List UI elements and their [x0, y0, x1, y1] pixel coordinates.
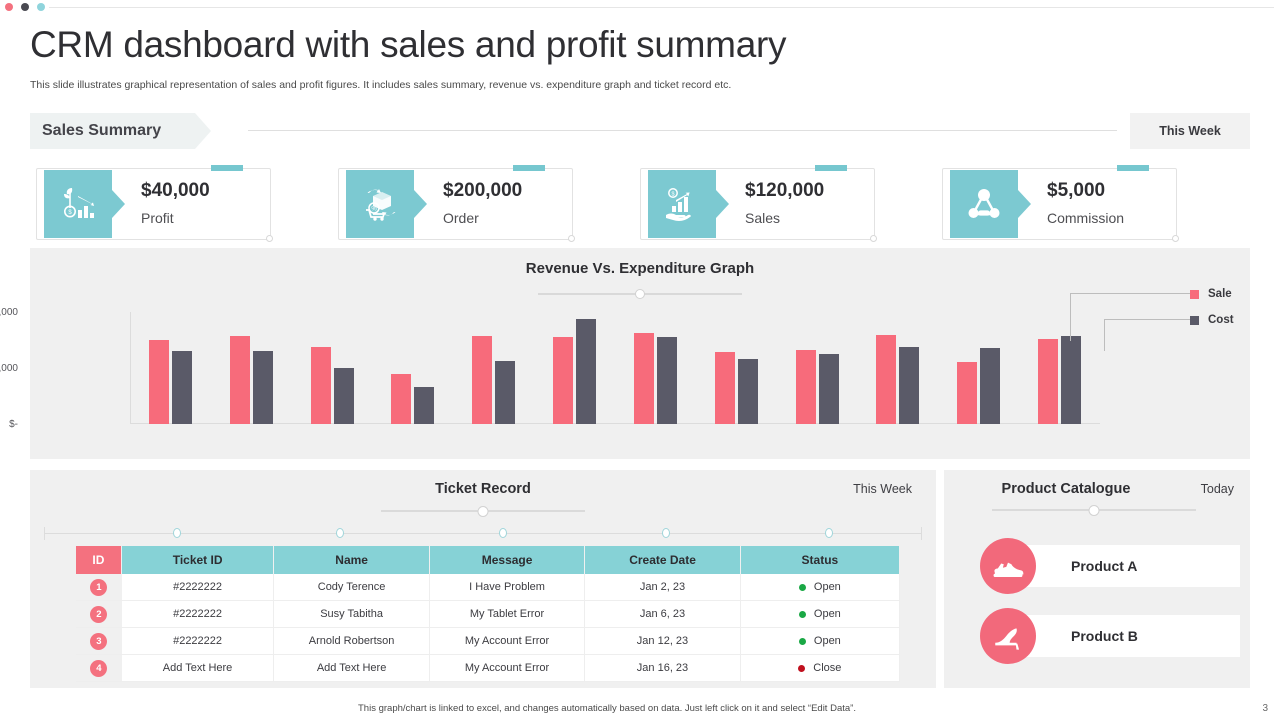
- ticket-slider-knob[interactable]: [478, 506, 489, 517]
- ticket-record-slider[interactable]: [381, 506, 585, 516]
- sales-hand-growth-icon: $: [648, 170, 716, 238]
- status-label: Open: [814, 581, 841, 593]
- chart-bar-group: [709, 352, 763, 424]
- row-id-badge: 3: [90, 633, 107, 650]
- chart-bar-sale: [796, 350, 816, 424]
- chart-bar-sale: [715, 352, 735, 424]
- table-cell-status: Open: [741, 601, 900, 627]
- sales-summary-tag: Sales Summary: [30, 113, 195, 149]
- product-item-b[interactable]: Product B: [980, 615, 1240, 657]
- page-subtitle: This slide illustrates graphical represe…: [30, 79, 731, 91]
- table-cell-name: Arnold Robertson: [274, 628, 429, 654]
- chart-legend: Sale Cost: [1032, 284, 1222, 344]
- table-cell-message: My Account Error: [430, 628, 585, 654]
- window-dot-dark[interactable]: [21, 3, 29, 11]
- kpi-accent-bar: [513, 165, 545, 171]
- chart-bar-sale: [957, 362, 977, 424]
- table-cell-create-date: Jan 6, 23: [585, 601, 740, 627]
- high-heel-shoe-icon: [980, 608, 1036, 664]
- kpi-card-profit[interactable]: $ $40,000 Profit: [36, 168, 271, 240]
- legend-callout-sale-stem: [1070, 293, 1071, 341]
- status-label: Open: [814, 608, 841, 620]
- column-header-message[interactable]: Message: [430, 546, 585, 574]
- table-cell-ticket-id: Add Text Here: [122, 655, 275, 681]
- column-header-create-date[interactable]: Create Date: [585, 546, 740, 574]
- chart-bar-sale: [311, 347, 331, 424]
- status-badge: Close: [798, 662, 841, 674]
- chart-bar-cost: [414, 387, 434, 424]
- column-resize-rail: [44, 525, 922, 541]
- legend-swatch-sale: [1190, 290, 1199, 299]
- legend-callout-cost-line: [1104, 319, 1190, 320]
- chart-bar-cost: [899, 347, 919, 424]
- chart-bar-group: [790, 350, 844, 424]
- window-dot-teal[interactable]: [37, 3, 45, 11]
- table-cell-status: Open: [741, 628, 900, 654]
- column-header-ticket-id[interactable]: Ticket ID: [122, 546, 275, 574]
- sneaker-shoe-icon: [980, 538, 1036, 594]
- chart-bar-group: [386, 374, 440, 424]
- product-slider-knob[interactable]: [1089, 505, 1100, 516]
- table-cell-id: 1: [76, 574, 122, 600]
- ticket-table-header: ID Ticket ID Name Message Create Date St…: [76, 546, 900, 574]
- table-cell-name: Susy Tabitha: [274, 601, 429, 627]
- chart-slider[interactable]: [538, 289, 742, 299]
- chart-y-tick-label: $6,000: [0, 363, 18, 374]
- column-rail-cap-left: [44, 527, 45, 540]
- svg-text:$: $: [671, 191, 674, 197]
- table-cell-message: My Tablet Error: [430, 601, 585, 627]
- status-dot-open: [799, 611, 806, 618]
- chart-bar-sale: [634, 333, 654, 424]
- table-cell-id: 4: [76, 655, 122, 681]
- chart-bar-cost: [738, 359, 758, 424]
- status-dot-open: [799, 638, 806, 645]
- chart-bar-sale: [230, 336, 250, 424]
- sales-summary-band: Sales Summary This Week: [30, 113, 1250, 149]
- column-resize-handle[interactable]: [825, 528, 833, 538]
- row-id-badge: 4: [90, 660, 107, 677]
- status-badge: Open: [799, 581, 841, 593]
- chart-bar-cost: [1061, 336, 1081, 424]
- chart-bar-cost: [657, 337, 677, 424]
- window-dot-red[interactable]: [5, 3, 13, 11]
- legend-callout-sale-line: [1070, 293, 1190, 294]
- status-badge: Open: [799, 608, 841, 620]
- window-chrome: [0, 0, 1280, 14]
- status-badge: Open: [799, 635, 841, 647]
- page-title: CRM dashboard with sales and profit summ…: [30, 24, 786, 66]
- kpi-accent-bar: [815, 165, 847, 171]
- kpi-accent-bar: [1117, 165, 1149, 171]
- chart-bar-group: [628, 333, 682, 424]
- kpi-card-commission[interactable]: $5,000 Commission: [942, 168, 1177, 240]
- kpi-value: $120,000: [745, 180, 824, 202]
- chart-plot-area: $-$6,000$12,000JanFebMarAprMayJunJulAugS…: [130, 312, 1100, 424]
- chart-bar-sale: [472, 336, 492, 424]
- table-cell-status: Close: [741, 655, 900, 681]
- chart-bar-group: [871, 335, 925, 424]
- chart-bar-group: [952, 348, 1006, 424]
- product-item-bar: Product A: [1010, 545, 1240, 587]
- chart-bar-group: [548, 319, 602, 424]
- column-resize-handle[interactable]: [173, 528, 181, 538]
- product-item-label: Product A: [1071, 558, 1137, 574]
- chart-bar-cost: [172, 351, 192, 424]
- chart-bar-cost: [253, 351, 273, 424]
- chart-bar-cost: [495, 361, 515, 424]
- kpi-label: Sales: [745, 210, 780, 226]
- table-cell-status: Open: [741, 574, 900, 600]
- product-catalogue-period[interactable]: Today: [1201, 482, 1234, 496]
- kpi-card-list: $ $40,000 Profit %: [30, 162, 1250, 240]
- svg-text:$: $: [68, 210, 72, 216]
- slide-canvas: CRM dashboard with sales and profit summ…: [0, 0, 1280, 720]
- chart-title: Revenue Vs. Expenditure Graph: [30, 260, 1250, 277]
- commission-network-icon: [950, 170, 1018, 238]
- kpi-label: Profit: [141, 210, 174, 226]
- page-number: 3: [1262, 703, 1268, 714]
- kpi-card-sales[interactable]: $ $120,000 Sales: [640, 168, 875, 240]
- table-row[interactable]: 3#2222222Arnold RobertsonMy Account Erro…: [76, 628, 900, 655]
- chart-bar-sale: [553, 337, 573, 424]
- status-label: Close: [813, 662, 841, 674]
- chart-y-tick-label: $-: [9, 419, 18, 430]
- kpi-accent-bar: [211, 165, 243, 171]
- kpi-value: $5,000: [1047, 180, 1105, 202]
- window-divider: [49, 7, 1274, 8]
- product-item-label: Product B: [1071, 628, 1138, 644]
- table-cell-create-date: Jan 2, 23: [585, 574, 740, 600]
- sales-summary-rule: [248, 130, 1117, 131]
- chart-y-tick-label: $12,000: [0, 307, 18, 318]
- sales-summary-label: Sales Summary: [42, 122, 161, 140]
- footer-note: This graph/chart is linked to excel, and…: [358, 703, 856, 714]
- product-catalogue-panel: Product Catalogue Today Product A Produc…: [944, 470, 1250, 688]
- column-header-id[interactable]: ID: [76, 546, 122, 574]
- table-row[interactable]: 1#2222222Cody TerenceI Have ProblemJan 2…: [76, 574, 900, 601]
- table-cell-create-date: Jan 12, 23: [585, 628, 740, 654]
- legend-swatch-cost: [1190, 316, 1199, 325]
- ticket-record-panel: Ticket Record This Week ID Ticket ID Nam…: [30, 470, 936, 688]
- column-header-name[interactable]: Name: [274, 546, 429, 574]
- profit-chart-plant-icon: $: [44, 170, 112, 238]
- product-item-bar: Product B: [1010, 615, 1240, 657]
- column-header-status[interactable]: Status: [741, 546, 900, 574]
- chart-bar-group: [224, 336, 278, 424]
- status-dot-open: [799, 584, 806, 591]
- chart-bar-group: [1033, 336, 1087, 424]
- kpi-value: $40,000: [141, 180, 210, 202]
- sales-summary-period-badge[interactable]: This Week: [1130, 113, 1250, 149]
- status-dot-close: [798, 665, 805, 672]
- chart-bar-cost: [576, 319, 596, 424]
- status-label: Open: [814, 635, 841, 647]
- table-cell-ticket-id: #2222222: [122, 574, 275, 600]
- table-cell-message: I Have Problem: [430, 574, 585, 600]
- table-cell-ticket-id: #2222222: [122, 628, 275, 654]
- kpi-value: $200,000: [443, 180, 522, 202]
- column-resize-handle[interactable]: [499, 528, 507, 538]
- table-cell-ticket-id: #2222222: [122, 601, 275, 627]
- row-id-badge: 1: [90, 579, 107, 596]
- table-cell-message: My Account Error: [430, 655, 585, 681]
- legend-label-cost: Cost: [1208, 314, 1234, 326]
- chart-bar-sale: [149, 340, 169, 424]
- ticket-table: ID Ticket ID Name Message Create Date St…: [76, 546, 900, 682]
- ticket-table-body: 1#2222222Cody TerenceI Have ProblemJan 2…: [76, 574, 900, 682]
- kpi-label: Commission: [1047, 210, 1124, 226]
- chart-bar-group: [467, 336, 521, 424]
- table-cell-name: Cody Terence: [274, 574, 429, 600]
- legend-label-sale: Sale: [1208, 288, 1232, 300]
- legend-callout-cost-stem: [1104, 319, 1105, 351]
- kpi-card-order[interactable]: % $200,000 Order: [338, 168, 573, 240]
- chart-bar-sale: [1038, 339, 1058, 424]
- chart-bar-cost: [980, 348, 1000, 424]
- svg-text:%: %: [371, 207, 377, 213]
- column-resize-handle[interactable]: [662, 528, 670, 538]
- legend-item-cost[interactable]: Cost: [1190, 314, 1234, 326]
- row-id-badge: 2: [90, 606, 107, 623]
- product-item-a[interactable]: Product A: [980, 545, 1240, 587]
- chart-slider-knob[interactable]: [635, 289, 645, 299]
- revenue-expenditure-chart-panel: Revenue Vs. Expenditure Graph $-$6,000$1…: [30, 248, 1250, 459]
- column-resize-handle[interactable]: [336, 528, 344, 538]
- table-cell-create-date: Jan 16, 23: [585, 655, 740, 681]
- chart-bar-cost: [334, 368, 354, 424]
- chart-bar-sale: [876, 335, 896, 424]
- chart-bar-group: [143, 340, 197, 424]
- chart-y-axis: [130, 312, 131, 424]
- column-rail-cap-right: [921, 527, 922, 540]
- legend-item-sale[interactable]: Sale: [1190, 288, 1232, 300]
- table-row[interactable]: 4Add Text HereAdd Text HereMy Account Er…: [76, 655, 900, 682]
- table-row[interactable]: 2#2222222Susy TabithaMy Tablet ErrorJan …: [76, 601, 900, 628]
- order-box-cart-icon: %: [346, 170, 414, 238]
- table-cell-name: Add Text Here: [274, 655, 429, 681]
- kpi-label: Order: [443, 210, 479, 226]
- chart-bar-cost: [819, 354, 839, 424]
- table-cell-id: 3: [76, 628, 122, 654]
- table-cell-id: 2: [76, 601, 122, 627]
- chart-bar-sale: [391, 374, 411, 424]
- chart-bar-group: [305, 347, 359, 424]
- ticket-record-title: Ticket Record: [30, 481, 936, 497]
- product-catalogue-slider[interactable]: [992, 505, 1196, 515]
- product-catalogue-title: Product Catalogue: [966, 481, 1166, 497]
- ticket-record-period[interactable]: This Week: [853, 482, 912, 496]
